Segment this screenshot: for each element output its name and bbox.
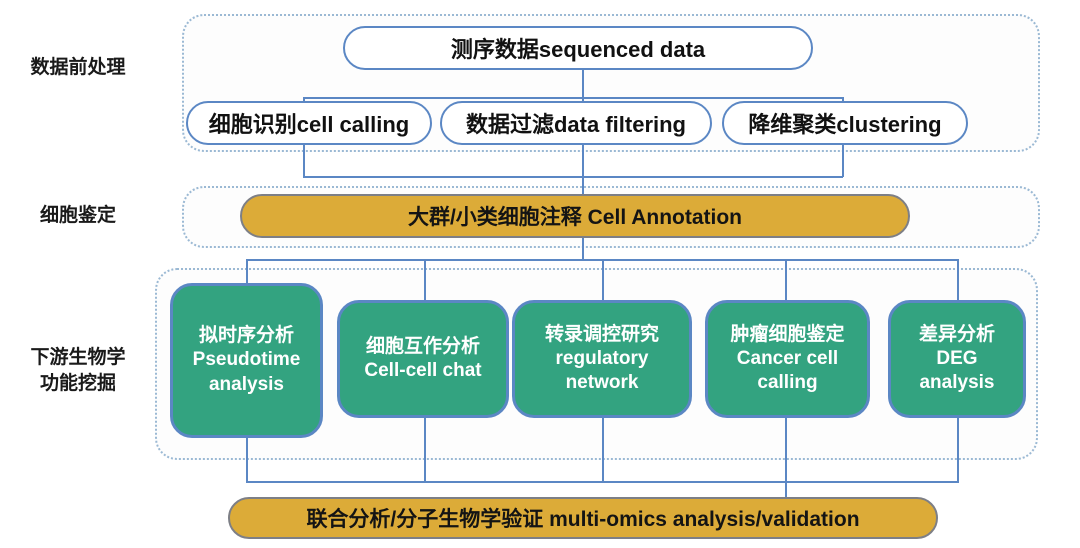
- connector-bar-to-cellchat: [424, 259, 426, 305]
- connector-cellcalling-down: [303, 145, 305, 177]
- diagram-canvas: 数据前处理 细胞鉴定 下游生物学 功能挖掘 测序数据sequenced data…: [0, 0, 1080, 548]
- card-deg-analysis[interactable]: 差异分析 DEG analysis: [888, 300, 1026, 418]
- connector-regulatory-down: [602, 418, 604, 482]
- card-regulatory-network[interactable]: 转录调控研究 regulatory network: [512, 300, 692, 418]
- connector-deg-down: [957, 418, 959, 482]
- connector-cancercell-down: [785, 418, 787, 482]
- node-data-filtering[interactable]: 数据过滤data filtering: [440, 101, 712, 145]
- node-sequenced-data[interactable]: 测序数据sequenced data: [343, 26, 813, 70]
- row-label-downstream: 下游生物学 功能挖掘: [8, 345, 148, 396]
- card-cancer-cell-calling[interactable]: 肿瘤细胞鉴定 Cancer cell calling: [705, 300, 870, 418]
- connector-datafiltering-down: [582, 145, 584, 177]
- node-cell-annotation[interactable]: 大群/小类细胞注释 Cell Annotation: [240, 194, 910, 238]
- node-multi-omics-validation[interactable]: 联合分析/分子生物学验证 multi-omics analysis/valida…: [228, 497, 938, 539]
- connector-bar-to-bottom: [246, 481, 959, 483]
- card-pseudotime-analysis[interactable]: 拟时序分析 Pseudotime analysis: [170, 283, 323, 438]
- row-label-preprocessing: 数据前处理: [8, 55, 148, 81]
- connector-annotation-down: [582, 238, 584, 260]
- node-cell-calling[interactable]: 细胞识别cell calling: [186, 101, 432, 145]
- row-label-cell-identification: 细胞鉴定: [8, 203, 148, 229]
- connector-pseudotime-down: [246, 438, 248, 482]
- node-clustering[interactable]: 降维聚类clustering: [722, 101, 968, 145]
- connector-into-annotation: [582, 176, 584, 196]
- connector-bar-to-deg: [957, 259, 959, 305]
- connector-clustering-down: [842, 145, 844, 177]
- connector-top-to-bar: [582, 70, 584, 98]
- card-cell-cell-chat[interactable]: 细胞互作分析 Cell-cell chat: [337, 300, 509, 418]
- connector-bar-to-regulatory: [602, 259, 604, 305]
- connector-cellchat-down: [424, 418, 426, 482]
- connector-bar-to-annotation: [303, 176, 843, 178]
- connector-bar-preprocessing: [303, 97, 843, 99]
- connector-bar-to-cancercell: [785, 259, 787, 305]
